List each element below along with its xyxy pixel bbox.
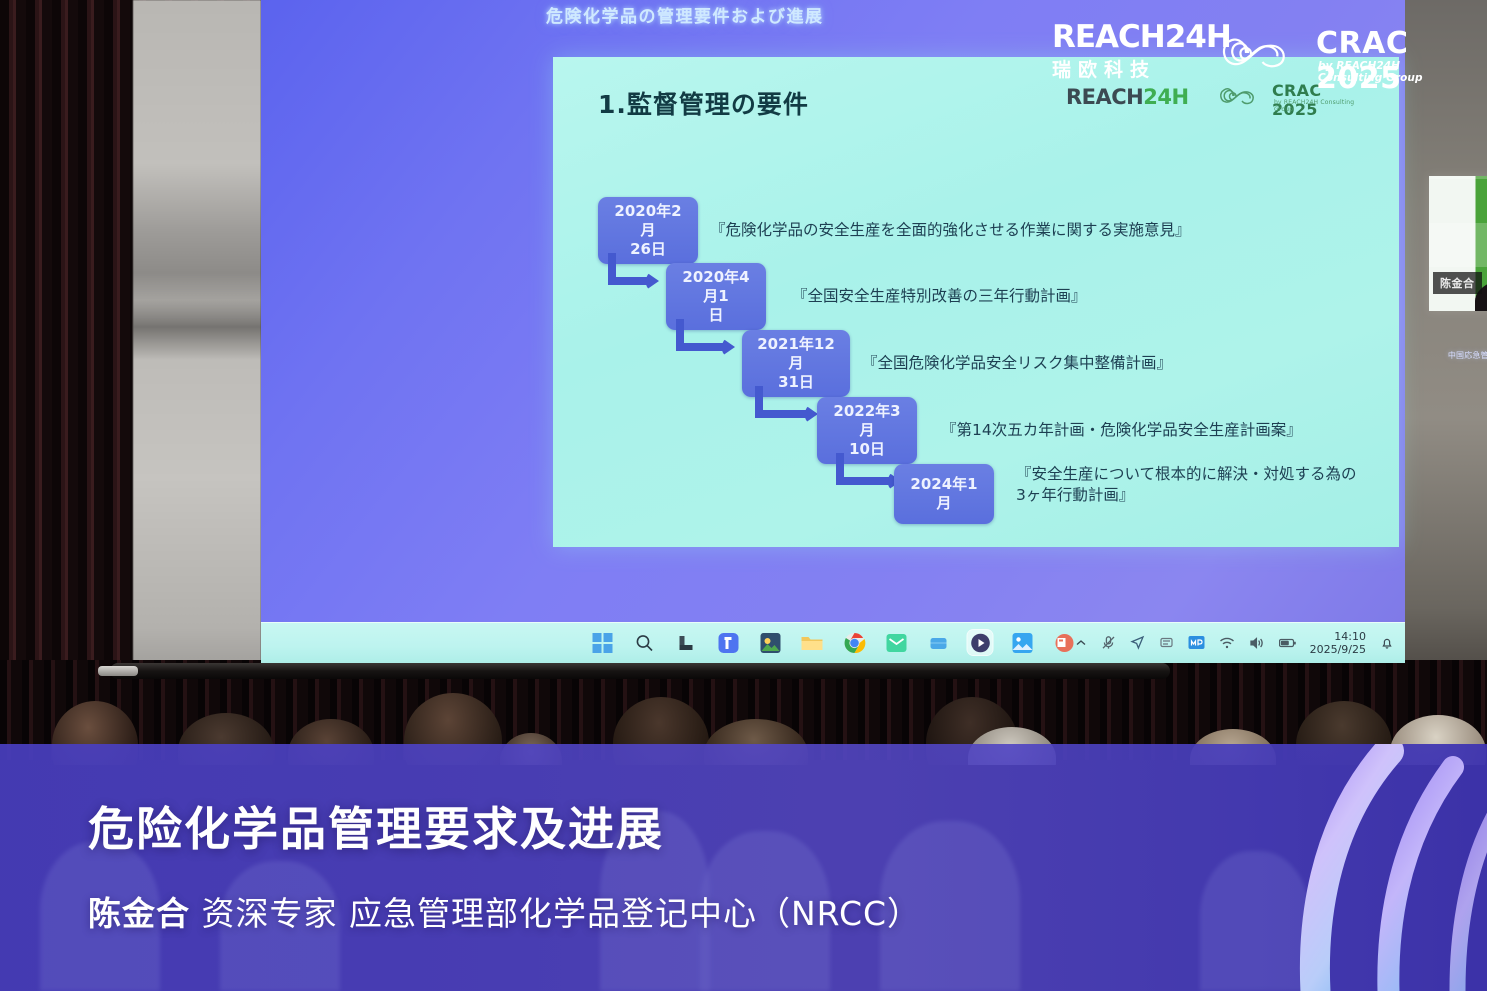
overlay-reach24h-logo: REACH24H 瑞欧科技 [1052,22,1202,82]
speaker-caption-name: 陳金合 [1409,310,1487,335]
speaker-caption-role: シニア専門家 [1409,337,1487,349]
media-player-icon[interactable] [968,630,993,655]
sogou-icon[interactable] [1188,630,1206,655]
photos-icon[interactable] [1010,630,1035,655]
slide-heading: 1.監督管理の要件 [598,85,809,121]
presentation-slide: 1.監督管理の要件 REACH24H CRAC 2025 by REACH24H… [553,57,1399,547]
banner-speaker-name: 陈金合 [88,894,190,933]
taskbar-icon-group [590,630,1077,655]
timeline-date-chip: 2024年1月 [894,464,994,524]
infinity-loop-icon [1218,79,1272,113]
bell-icon[interactable] [1379,630,1395,655]
taskbar-tray: 14:10 2025/9/25 [1074,630,1395,656]
send-icon[interactable] [1130,630,1146,655]
speaker-video-name-overlay: 陈金合 [1433,272,1482,294]
overlay-crac-subtitle: by REACH24H Consulting Group [1318,60,1468,84]
grey-wall-panel-shadow [133,300,261,360]
speaker-caption: 陳金合 シニア専門家 中国応急管理部危険化学品登記センター(NRCC) [1409,310,1487,361]
wifi-icon[interactable] [1219,630,1236,655]
timeline-text: 『危険化学品の安全生産を全面的強化させる作業に関する実施意見』 [710,220,1191,241]
overlay-reach24h-latin: REACH24H [1052,22,1202,53]
timeline-row: 2020年2月 26日 『危険化学品の安全生産を全面的強化させる作業に関する実施… [598,197,1191,264]
volume-icon[interactable] [1249,630,1266,655]
slide-reach24h-logo-text: REACH [1066,85,1143,109]
chevron-up-icon[interactable] [1074,630,1088,655]
overlay-crac-logo: CRAC 2025 by REACH24H Consulting Group [1218,24,1468,84]
clock-date: 2025/9/25 [1310,643,1366,656]
search-icon[interactable] [632,630,657,655]
teams-icon[interactable] [926,630,951,655]
slide-reach24h-logo: REACH24H [1066,85,1189,109]
input-method-icon[interactable] [1159,630,1175,655]
chrome-icon[interactable] [842,630,867,655]
slide-timeline: 2020年2月 26日 『危険化学品の安全生産を全面的強化させる作業に関する実施… [598,197,1378,517]
right-wall-panel [1404,0,1487,760]
battery-icon[interactable] [1279,630,1297,655]
microphone-muted-icon[interactable] [1101,630,1117,655]
taskbar-clock[interactable]: 14:10 2025/9/25 [1310,630,1366,656]
speaker-caption-org: 中国応急管理部危険化学品登記センター(NRCC) [1409,350,1487,361]
banner-title: 危险化学品管理要求及进展 [88,793,664,859]
slide-crac-subtitle: by REACH24H Consulting Group [1274,99,1368,113]
timeline-arrow [608,253,666,293]
feishu-icon[interactable] [716,630,741,655]
timeline-arrow [676,319,744,359]
lower-third-banner [0,744,1487,991]
screenshot-root: 危険化学品の管理要件および進展 1.監督管理の要件 REACH24H CRAC … [0,0,1487,991]
overlay-reach24h-cn: 瑞欧科技 [1052,55,1202,82]
file-explorer-legacy-icon[interactable] [674,630,699,655]
speaker-video-thumbnail[interactable]: 陈金合 [1429,176,1487,311]
folder-icon[interactable] [800,630,825,655]
infinity-loop-icon [1218,26,1310,80]
windows-start-icon[interactable] [590,630,615,655]
store-icon[interactable] [758,630,783,655]
timeline-text: 『安全生産について根本的に解決・対処する為の 3ヶ年行動計画』 [1016,464,1357,506]
decorative-swirl [1257,744,1487,991]
slide-reach24h-logo-suffix: 24H [1143,85,1188,109]
timeline-text: 『全国安全生産特別改善の三年行動計画』 [792,286,1087,307]
clock-time: 14:10 [1310,630,1366,643]
timeline-text: 『第14次五カ年計画・危険化学品安全生産計画案』 [941,420,1302,441]
banner-subtitle: 陈金合 资深专家 应急管理部化学品登记中心（NRCC） [88,887,921,935]
timeline-text: 『全国危険化学品安全リスク集中整備計画』 [862,353,1172,374]
mail-icon[interactable] [884,630,909,655]
banner-speaker-affiliation: 资深专家 应急管理部化学品登记中心（NRCC） [190,894,921,933]
timeline-row: 2024年1月 『安全生産について根本的に解決・対処する為の 3ヶ年行動計画』 [894,464,1357,524]
projected-screen: 危険化学品の管理要件および進展 1.監督管理の要件 REACH24H CRAC … [261,0,1405,622]
